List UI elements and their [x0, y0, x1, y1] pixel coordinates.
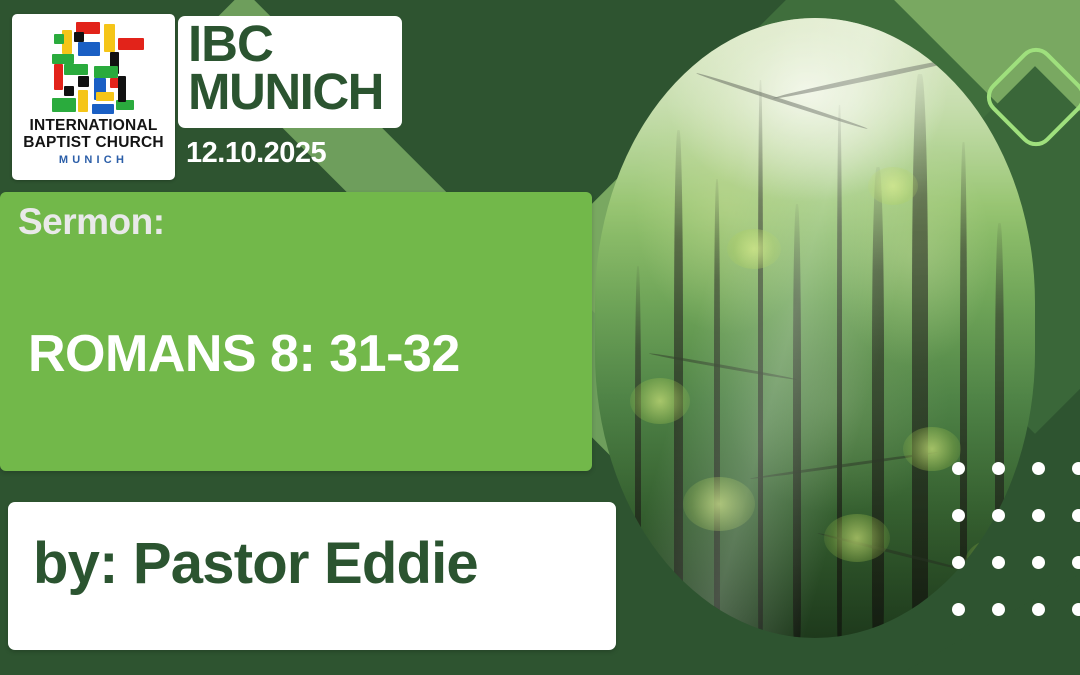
- grid-dot: [1072, 509, 1080, 522]
- grid-dot: [1072, 603, 1080, 616]
- grid-dot: [952, 462, 965, 475]
- sermon-label: Sermon:: [18, 201, 165, 243]
- church-logo-card: INTERNATIONAL BAPTIST CHURCH MUNICH: [12, 14, 175, 180]
- grid-dot: [992, 556, 1005, 569]
- dot-grid-decoration: [952, 462, 1080, 632]
- grid-dot: [1072, 462, 1080, 475]
- grid-dot: [952, 603, 965, 616]
- logo-line-1: INTERNATIONAL: [29, 118, 157, 134]
- grid-dot: [952, 509, 965, 522]
- logo-line-3: MUNICH: [59, 154, 128, 166]
- grid-dot: [952, 556, 965, 569]
- grid-dot: [992, 509, 1005, 522]
- grid-dot: [992, 603, 1005, 616]
- grid-dot: [1032, 556, 1045, 569]
- ibc-mosaic-logo-icon: [38, 20, 150, 116]
- sermon-date: 12.10.2025: [186, 137, 326, 170]
- sermon-title: ROMANS 8: 31-32: [28, 324, 460, 384]
- logo-line-2: BAPTIST CHURCH: [23, 134, 164, 151]
- grid-dot: [992, 462, 1005, 475]
- grid-dot: [1032, 462, 1045, 475]
- grid-dot: [1032, 603, 1045, 616]
- ibc-title: IBC MUNICH: [188, 20, 448, 117]
- ibc-title-line-2: MUNICH: [188, 68, 448, 116]
- grid-dot: [1072, 556, 1080, 569]
- speaker-name: by: Pastor Eddie: [33, 530, 478, 597]
- sermon-slide: IBC MUNICH 12.10.2025: [0, 0, 1080, 675]
- grid-dot: [1032, 509, 1045, 522]
- ibc-title-line-1: IBC: [188, 20, 448, 68]
